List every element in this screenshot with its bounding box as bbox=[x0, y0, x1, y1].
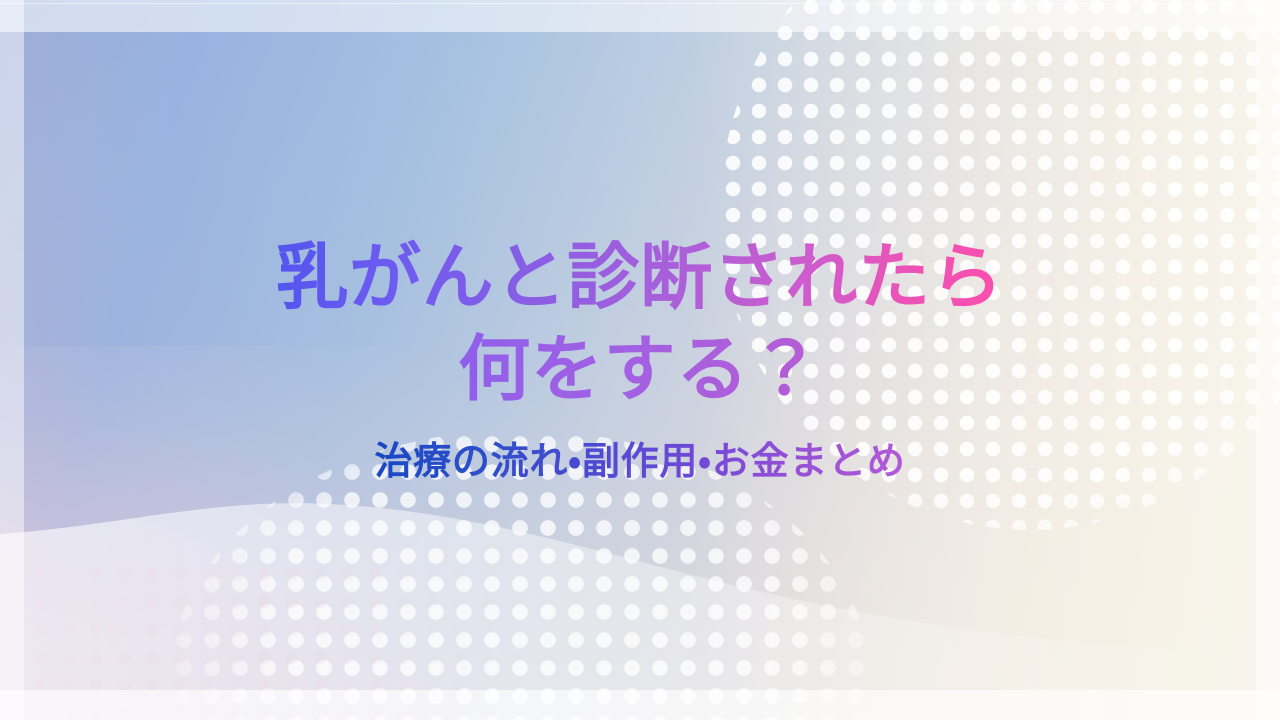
slide-content: 乳がんと診断されたら 何をする？ 治療の流れ・副作用・お金まとめ bbox=[0, 0, 1280, 720]
slide-title: 乳がんと診断されたら 何をする？ bbox=[276, 232, 1003, 416]
slide-canvas: 乳がんと診断されたら 何をする？ 治療の流れ・副作用・お金まとめ bbox=[0, 0, 1280, 720]
slide-title-line-1: 乳がんと診断されたら bbox=[276, 232, 1003, 324]
slide-title-line-2: 何をする？ bbox=[276, 324, 1003, 416]
slide-subtitle: 治療の流れ・副作用・お金まとめ bbox=[374, 438, 905, 487]
